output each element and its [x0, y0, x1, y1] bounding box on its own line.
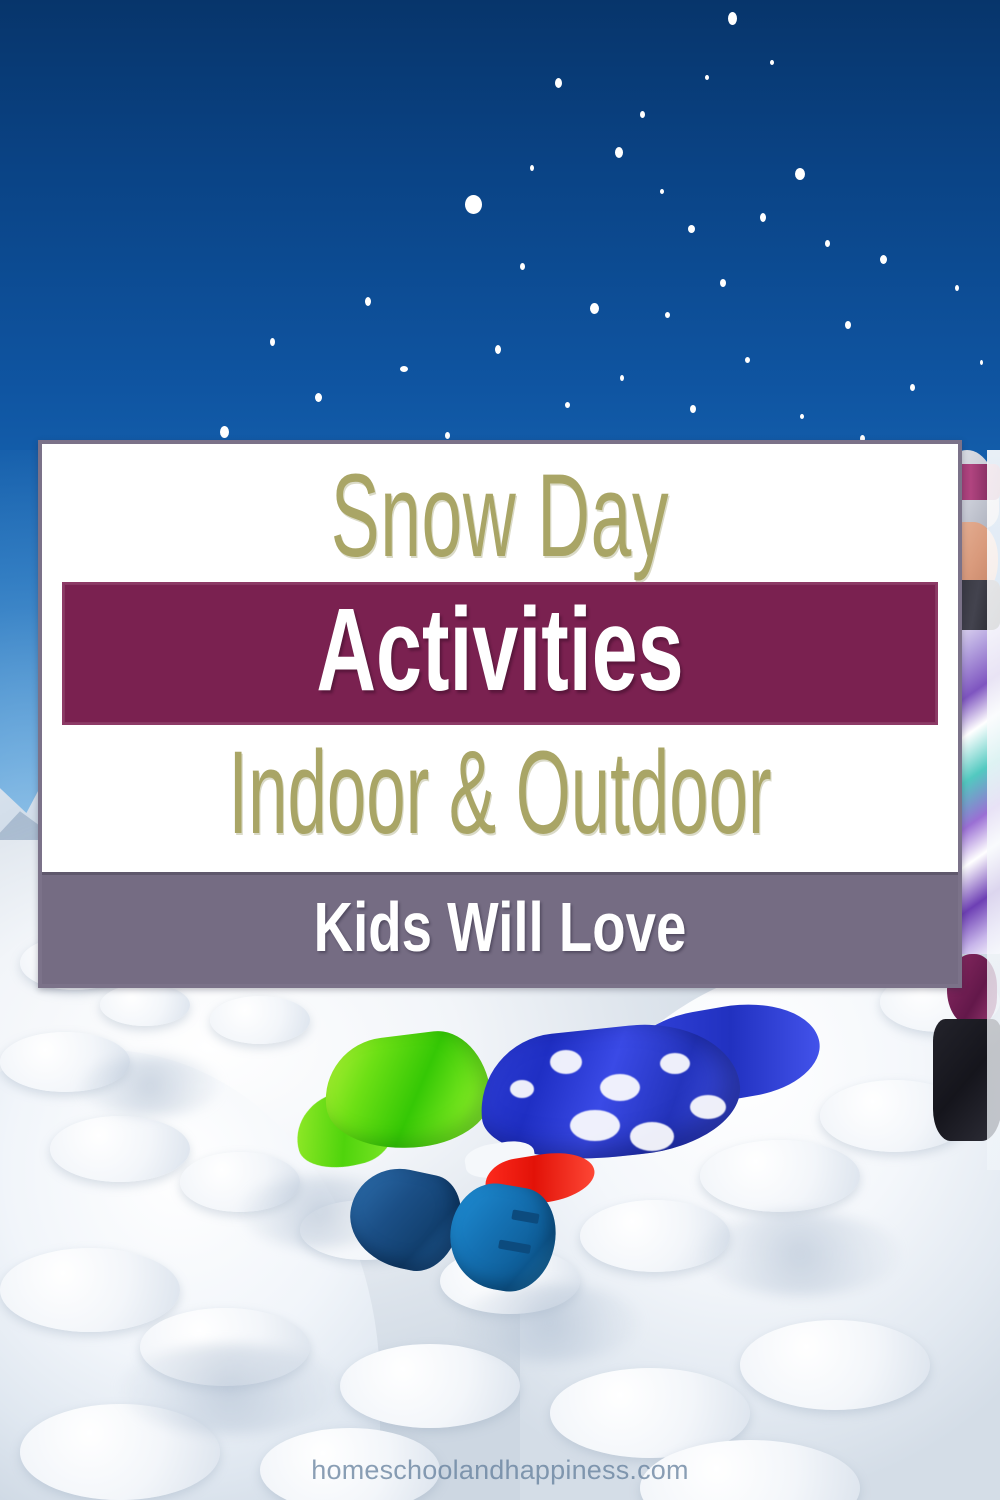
pinterest-pin-image: Snow Day Activities Indoor & Outdoor Kid… — [0, 0, 1000, 1500]
title-line-activities: Activities — [195, 588, 805, 713]
title-card: Snow Day Activities Indoor & Outdoor Kid… — [38, 440, 962, 988]
title-line-kids-will-love: Kids Will Love — [143, 891, 857, 964]
title-card-white-section: Snow Day Activities Indoor & Outdoor — [42, 444, 958, 872]
title-line-snow-day: Snow Day — [216, 456, 784, 576]
gray-banner: Kids Will Love — [42, 872, 958, 984]
title-line-indoor-outdoor: Indoor & Outdoor — [225, 733, 775, 853]
snow-edge-strip — [987, 450, 1000, 1170]
site-url-watermark: homeschoolandhappiness.com — [0, 1455, 1000, 1486]
magenta-banner: Activities — [62, 582, 938, 725]
